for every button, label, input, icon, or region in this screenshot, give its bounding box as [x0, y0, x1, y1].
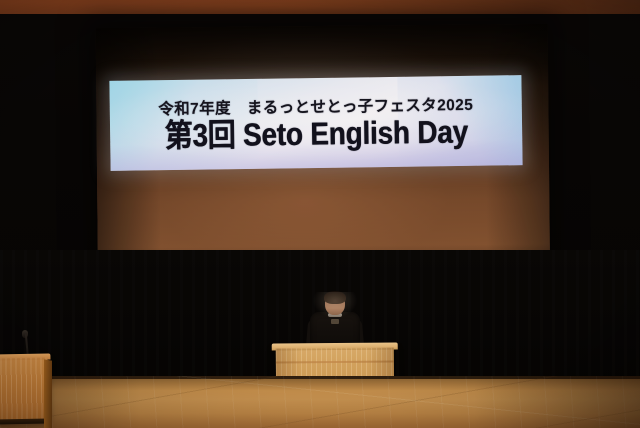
presenter-name-badge: [331, 319, 339, 324]
side-lectern: [0, 358, 49, 421]
side-lectern-base: [0, 419, 49, 425]
stage-floor: [0, 376, 640, 428]
floor-shading: [0, 376, 640, 428]
slide-title: 第3回 Seto English Day: [164, 116, 468, 153]
slide-text-block: 令和7年度 まるっとせとっ子フェスタ2025 第3回 Seto English …: [109, 75, 522, 171]
side-lectern-grain: [0, 358, 49, 421]
slide-banner: 令和7年度 まるっとせとっ子フェスタ2025 第3回 Seto English …: [109, 75, 522, 171]
presenter-hair: [324, 291, 346, 304]
side-lectern-side-panel: [44, 359, 52, 428]
stage-photo-scene: 令和7年度 まるっとせとっ子フェスタ2025 第3回 Seto English …: [0, 0, 640, 428]
